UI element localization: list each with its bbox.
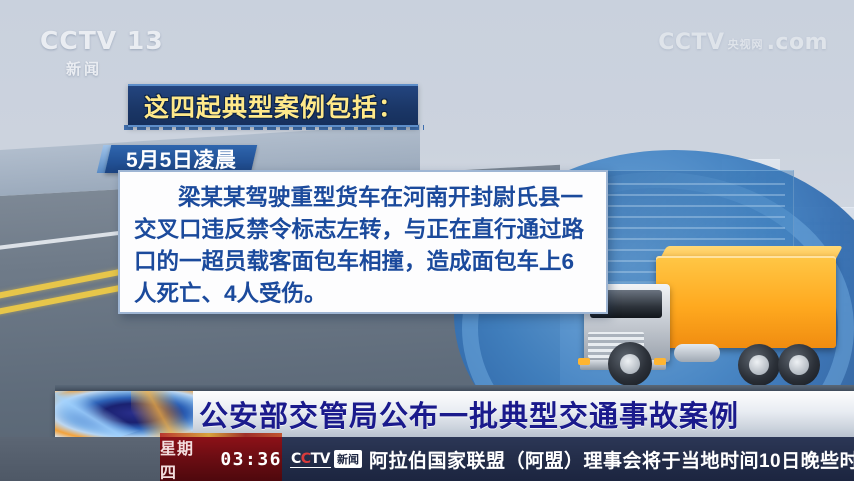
headline-banner-text: 这四起典型案例包括： — [144, 88, 404, 124]
truck-wheel — [778, 344, 820, 386]
truck-wheel-hub — [620, 354, 640, 374]
ticker-time: 03:36 — [220, 449, 282, 470]
cctv13-logo-text: CCTV 13 — [40, 26, 164, 55]
ticker-weekday: 星期四 — [160, 435, 210, 481]
lower-third-banner: 公安部交管局公布一批典型交通事故案例 — [55, 391, 854, 437]
truck-fuel-tank — [674, 344, 720, 362]
case-text-body: 梁某某驾驶重型货车在河南开封尉氏县一交叉口违反禁令标志左转，与正在直行通过路口的… — [134, 182, 594, 310]
cctv-news-badge-icon: CCTV 新闻 — [290, 450, 362, 468]
truck-headlight — [578, 358, 590, 365]
truck-wheel — [608, 342, 652, 386]
truck-headlight — [654, 358, 666, 365]
cctv13-channel-logo: CCTV 13 新闻 — [40, 26, 164, 79]
broadcast-screen: CCTV 13 新闻 CCTV 央视网 .com 这四起典型案例包括： 5月5日… — [0, 0, 854, 481]
ticker-left-filler — [0, 437, 160, 481]
ticker-headline-text: 阿拉伯国家联盟（阿盟）理事会将于当地时间10日晚些时候举行 — [369, 446, 854, 473]
headline-banner: 这四起典型案例包括： — [128, 84, 418, 127]
globe-graphic-icon — [55, 391, 193, 437]
ticker-clock: 星期四 03:36 — [160, 437, 282, 481]
truck-wheel-hub — [749, 355, 769, 375]
lower-third-title: 公安部交管局公布一批典型交通事故案例 — [193, 393, 739, 435]
case-text-box: 梁某某驾驶重型货车在河南开封尉氏县一交叉口违反禁令标志左转，与正在直行通过路口的… — [118, 170, 608, 314]
truck-wheel — [738, 344, 780, 386]
ticker-badge-cctv: CCTV — [290, 451, 331, 468]
truck-wheel-hub — [789, 355, 809, 375]
watermark-suffix: .com — [767, 30, 828, 55]
ticker-content: CCTV 新闻 阿拉伯国家联盟（阿盟）理事会将于当地时间10日晚些时候举行 — [282, 437, 854, 481]
cctv-com-watermark: CCTV 央视网 .com — [658, 30, 828, 55]
date-tab: 5月5日凌晨 — [105, 145, 258, 173]
watermark-text: CCTV — [658, 30, 724, 55]
cctv13-logo-subtitle: 新闻 — [66, 58, 164, 79]
watermark-cn-text: 央视网 — [728, 36, 764, 55]
ticker-badge-cn: 新闻 — [334, 450, 362, 468]
truck-cargo-box — [656, 256, 836, 348]
truck-illustration — [578, 240, 848, 390]
